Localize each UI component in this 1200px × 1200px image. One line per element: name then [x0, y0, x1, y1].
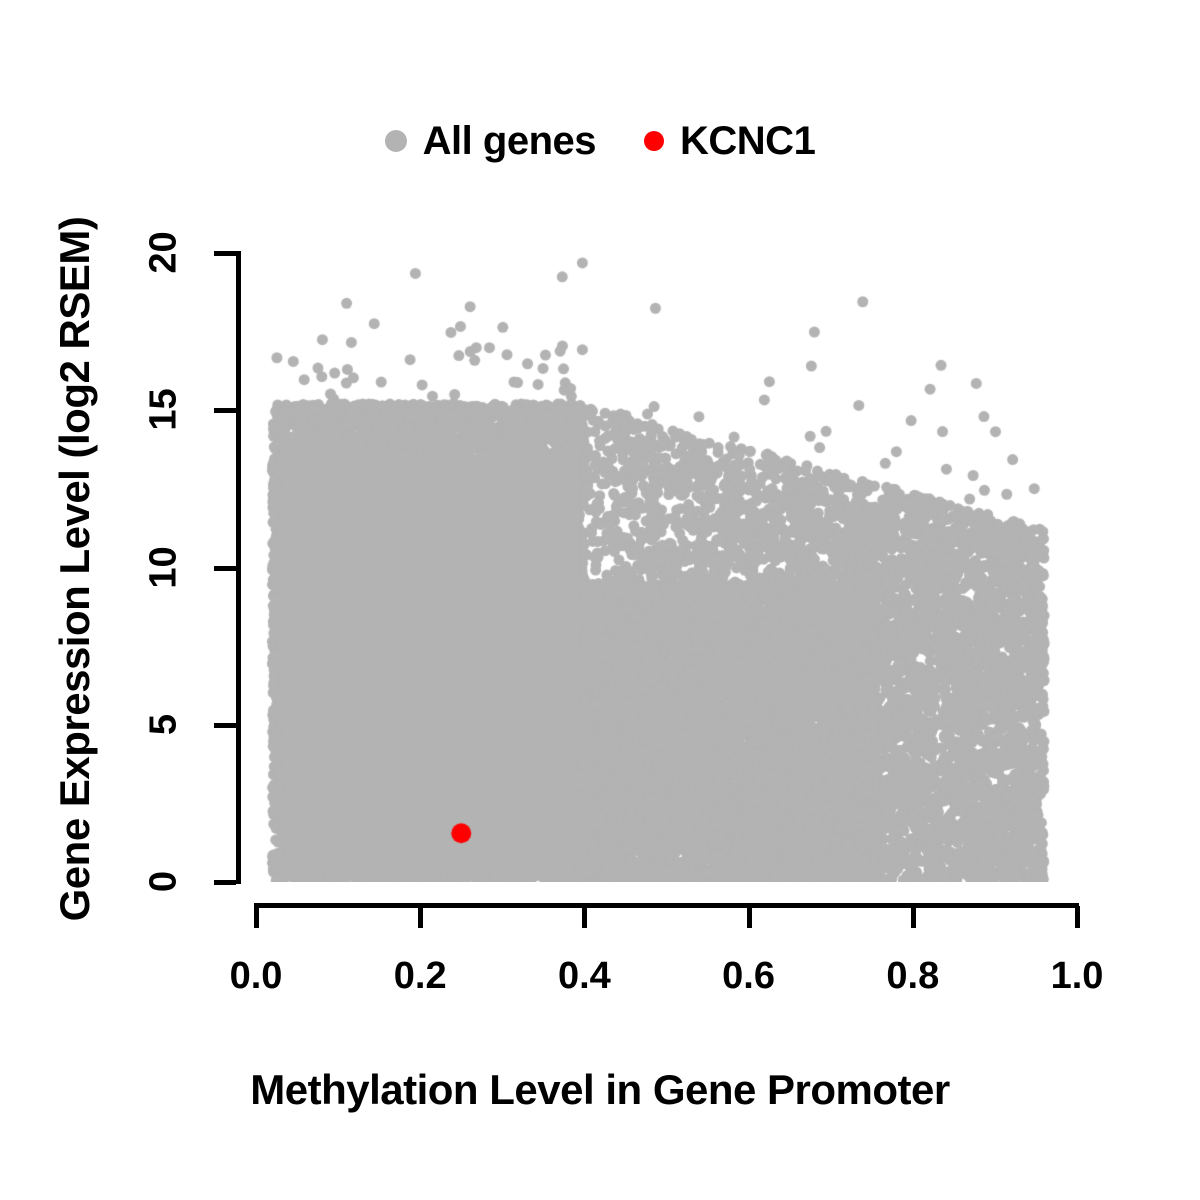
- x-tick-label: 0.2: [360, 955, 480, 998]
- x-tick-label: 1.0: [1017, 955, 1137, 998]
- x-tick-mark: [747, 906, 752, 928]
- y-tick-label: 5: [143, 684, 186, 764]
- scatter-plot-figure: All genes KCNC1 05101520 0.00.20.40.60.8…: [0, 0, 1200, 1200]
- legend-entry-kcnc1: KCNC1: [644, 119, 815, 164]
- y-tick-label: 15: [143, 370, 186, 450]
- y-tick-label: 10: [143, 527, 186, 607]
- y-tick-label: 20: [143, 213, 186, 293]
- x-tick-label: 0.0: [196, 955, 316, 998]
- legend-marker-all-genes-icon: [385, 130, 407, 152]
- y-tick-label: 0: [143, 842, 186, 922]
- y-axis-line: [236, 251, 241, 884]
- y-tick-mark: [214, 408, 236, 413]
- x-tick-mark: [418, 906, 423, 928]
- chart-legend: All genes KCNC1: [0, 110, 1200, 172]
- y-tick-mark: [214, 251, 236, 256]
- x-tick-mark: [254, 906, 259, 928]
- y-tick-mark: [214, 566, 236, 571]
- legend-entry-all-genes: All genes: [385, 119, 596, 164]
- plot-area: [256, 253, 1077, 882]
- y-axis-title: Gene Expression Level (log2 RSEM): [51, 139, 99, 999]
- x-tick-label: 0.6: [689, 955, 809, 998]
- x-tick-label: 0.8: [853, 955, 973, 998]
- legend-marker-kcnc1-icon: [644, 131, 664, 151]
- x-axis-title: Methylation Level in Gene Promoter: [0, 1066, 1200, 1114]
- x-tick-mark: [911, 906, 916, 928]
- x-axis-line: [254, 903, 1079, 908]
- scatter-points-layer: [256, 253, 1077, 882]
- legend-label-kcnc1: KCNC1: [680, 119, 815, 164]
- legend-label-all-genes: All genes: [423, 119, 596, 164]
- x-tick-mark: [1075, 906, 1080, 928]
- x-tick-label: 0.4: [524, 955, 644, 998]
- x-tick-mark: [582, 906, 587, 928]
- y-tick-mark: [214, 880, 236, 885]
- y-tick-mark: [214, 723, 236, 728]
